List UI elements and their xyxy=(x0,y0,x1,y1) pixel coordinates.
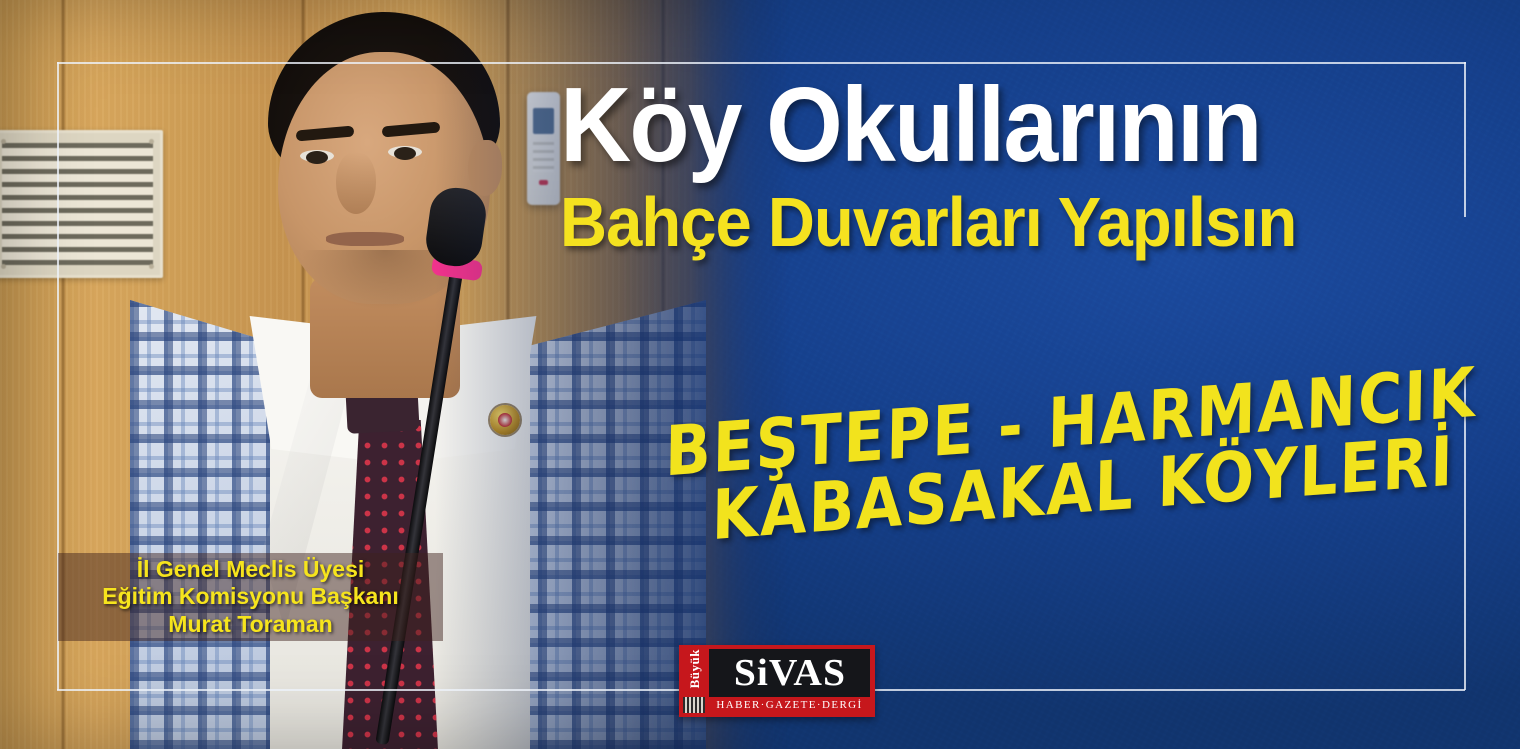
speaker-caption: İl Genel Meclis Üyesi Eğitim Komisyonu B… xyxy=(58,553,443,641)
frame-line-top xyxy=(57,62,1357,64)
headline: Köy Okullarının Bahçe Duvarları Yapılsın xyxy=(560,74,1470,259)
caption-line-3: Murat Toraman xyxy=(168,611,332,639)
logo-name-block: SiVAS xyxy=(709,649,870,697)
caption-line-1: İl Genel Meclis Üyesi xyxy=(137,556,365,584)
logo-tagline: HABER·GAZETE·DERGİ xyxy=(709,697,870,713)
frame-line-top-right xyxy=(1357,62,1466,64)
logo-barcode-icon xyxy=(683,697,705,713)
publication-logo[interactable]: Büyük SiVAS HABER·GAZETE·DERGİ xyxy=(679,645,875,717)
headline-line-1: Köy Okullarının xyxy=(560,74,1406,178)
news-banner: Köy Okullarının Bahçe Duvarları Yapılsın… xyxy=(0,0,1520,749)
logo-left-panel: Büyük xyxy=(679,645,709,717)
logo-right-panel: SiVAS HABER·GAZETE·DERGİ xyxy=(709,645,875,717)
logo-prefix: Büyük xyxy=(688,649,701,688)
caption-line-2: Eğitim Komisyonu Başkanı xyxy=(102,583,399,611)
logo-name: SiVAS xyxy=(733,654,845,692)
headline-line-2: Bahçe Duvarları Yapılsın xyxy=(560,186,1406,260)
